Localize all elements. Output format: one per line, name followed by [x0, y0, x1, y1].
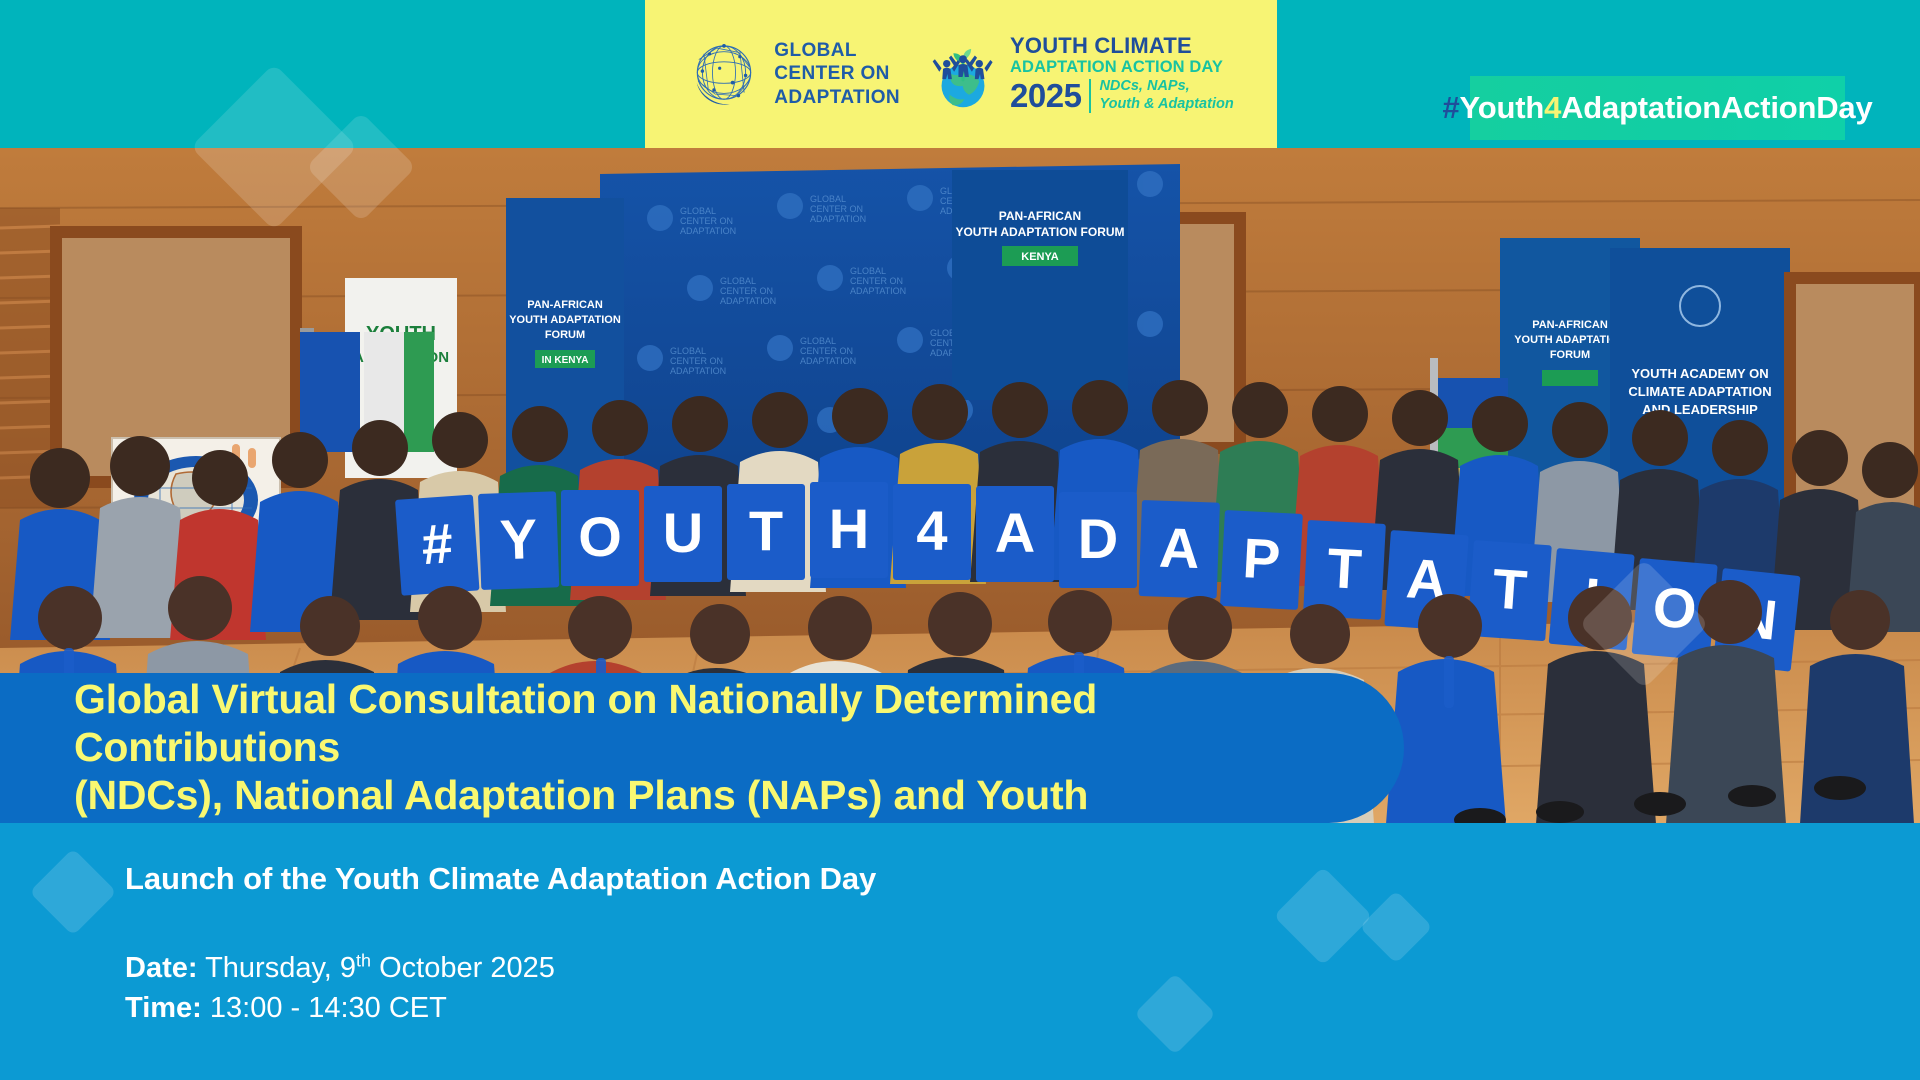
ycaad-subtitle: NDCs, NAPs, Youth & Adaptation [1099, 78, 1233, 113]
event-subtitle: Launch of the Youth Climate Adaptation A… [125, 861, 876, 897]
svg-text:ADAPTATION: ADAPTATION [850, 286, 906, 296]
svg-text:YOUTH ADAPTATION: YOUTH ADAPTATION [1514, 334, 1626, 346]
svg-text:FORUM: FORUM [545, 329, 585, 341]
footer-section: Launch of the Youth Climate Adaptation A… [0, 823, 1920, 1080]
svg-text:KENYA: KENYA [1021, 251, 1059, 263]
svg-text:ADAPTATION: ADAPTATION [680, 226, 736, 236]
svg-text:P: P [1241, 526, 1282, 591]
hashtag-part-2: AdaptationActionDay [1561, 90, 1872, 126]
ycaad-subtitle-line-1: NDCs, NAPs, [1099, 78, 1189, 94]
decorative-diamond [29, 848, 117, 936]
ycaad-wordmark: YOUTH CLIMATE ADAPTATION ACTION DAY 2025… [1010, 35, 1234, 114]
decorative-diamond [1134, 973, 1216, 1055]
svg-text:ADAPTATION: ADAPTATION [810, 214, 866, 224]
svg-text:U: U [663, 501, 703, 564]
date-ordinal-suffix: th [356, 950, 371, 970]
page-title: Global Virtual Consultation on Nationall… [0, 676, 1330, 820]
earth-with-people-and-sprout-icon [926, 37, 1000, 111]
svg-text:H: H [829, 497, 869, 560]
decorative-diamond [191, 64, 358, 148]
svg-text:A: A [995, 501, 1035, 564]
time-label: Time: [125, 992, 202, 1024]
event-poster: GLOBAL CENTER ON ADAPTATION [0, 0, 1920, 1080]
hashtag-symbol: # [1443, 90, 1460, 126]
decorative-diamond [1274, 867, 1373, 966]
svg-text:T: T [1490, 556, 1529, 621]
svg-text:A: A [1158, 516, 1201, 580]
header-bar: GLOBAL CENTER ON ADAPTATION [0, 0, 1920, 148]
svg-text:GLOBAL: GLOBAL [670, 346, 706, 356]
logo-panel: GLOBAL CENTER ON ADAPTATION [645, 0, 1277, 148]
svg-text:PAN-AFRICAN: PAN-AFRICAN [527, 299, 603, 311]
svg-text:O: O [578, 505, 622, 568]
event-time-row: Time: 13:00 - 14:30 CET [125, 988, 555, 1028]
title-banner: Global Virtual Consultation on Nationall… [0, 673, 1404, 823]
event-date-row: Date: Thursday, 9th October 2025 [125, 948, 555, 988]
svg-text:GLOBAL: GLOBAL [680, 206, 716, 216]
ycaad-divider [1089, 79, 1091, 113]
svg-text:CENTER ON: CENTER ON [720, 286, 773, 296]
svg-text:#: # [419, 511, 454, 576]
hashtag-badge: #Youth4AdaptationActionDay [1470, 76, 1845, 140]
svg-text:GLOBAL: GLOBAL [720, 276, 756, 286]
svg-text:CLIMATE ADAPTATION: CLIMATE ADAPTATION [1628, 384, 1771, 399]
date-label: Date: [125, 952, 198, 984]
svg-text:CENTER ON: CENTER ON [800, 346, 853, 356]
svg-text:YOUTH ACADEMY ON: YOUTH ACADEMY ON [1631, 366, 1768, 381]
youth-climate-adaptation-action-day-logo: YOUTH CLIMATE ADAPTATION ACTION DAY 2025… [926, 35, 1234, 114]
svg-text:GLOBAL: GLOBAL [810, 194, 846, 204]
title-line-1: Global Virtual Consultation on Nationall… [74, 676, 1097, 770]
gca-line-1: GLOBAL [774, 39, 900, 62]
svg-text:YOUTH ADAPTATION FORUM: YOUTH ADAPTATION FORUM [955, 225, 1124, 239]
svg-text:CENTER ON: CENTER ON [810, 204, 863, 214]
svg-text:IN KENYA: IN KENYA [542, 355, 589, 366]
svg-text:GLOBAL: GLOBAL [800, 336, 836, 346]
svg-text:ADAPTATION: ADAPTATION [720, 296, 776, 306]
gca-line-3: ADAPTATION [774, 86, 900, 109]
gca-line-2: CENTER ON [774, 62, 900, 85]
time-value: 13:00 - 14:30 CET [210, 992, 447, 1024]
svg-text:T: T [1326, 536, 1363, 601]
ycaad-line-2: ADAPTATION ACTION DAY [1010, 59, 1234, 76]
globe-mesh-icon [688, 38, 760, 110]
svg-text:CENTER ON: CENTER ON [850, 276, 903, 286]
date-value-after: October 2025 [379, 952, 555, 984]
svg-text:PAN-AFRICAN: PAN-AFRICAN [1532, 319, 1608, 331]
svg-text:Y: Y [499, 507, 539, 571]
hashtag-highlight: 4 [1544, 90, 1561, 126]
date-value-before: Thursday, 9 [205, 952, 356, 984]
svg-text:PAN-AFRICAN: PAN-AFRICAN [999, 209, 1081, 223]
svg-text:4: 4 [916, 499, 947, 562]
title-line-2: (NDCs), National Adaptation Plans (NAPs)… [74, 772, 1088, 818]
svg-text:GLOBAL: GLOBAL [850, 266, 886, 276]
svg-text:CENTER ON: CENTER ON [670, 356, 723, 366]
svg-text:FORUM: FORUM [1550, 349, 1590, 361]
ycaad-line-1: YOUTH CLIMATE [1010, 35, 1234, 57]
ycaad-year: 2025 [1010, 79, 1081, 112]
svg-text:ADAPTATION: ADAPTATION [670, 366, 726, 376]
svg-text:CENTER ON: CENTER ON [680, 216, 733, 226]
svg-text:T: T [749, 499, 783, 562]
gca-logo-wordmark: GLOBAL CENTER ON ADAPTATION [774, 39, 900, 109]
svg-text:O: O [1650, 574, 1699, 641]
decorative-diamond [1359, 890, 1433, 964]
event-date-time: Date: Thursday, 9th October 2025 Time: 1… [125, 948, 555, 1028]
svg-text:ADAPTATION: ADAPTATION [800, 356, 856, 366]
global-center-on-adaptation-logo: GLOBAL CENTER ON ADAPTATION [688, 38, 900, 110]
svg-text:YOUTH ADAPTATION: YOUTH ADAPTATION [509, 314, 621, 326]
hashtag-part-1: Youth [1460, 90, 1545, 126]
svg-text:D: D [1078, 507, 1118, 570]
ycaad-subtitle-line-2: Youth & Adaptation [1099, 96, 1233, 112]
